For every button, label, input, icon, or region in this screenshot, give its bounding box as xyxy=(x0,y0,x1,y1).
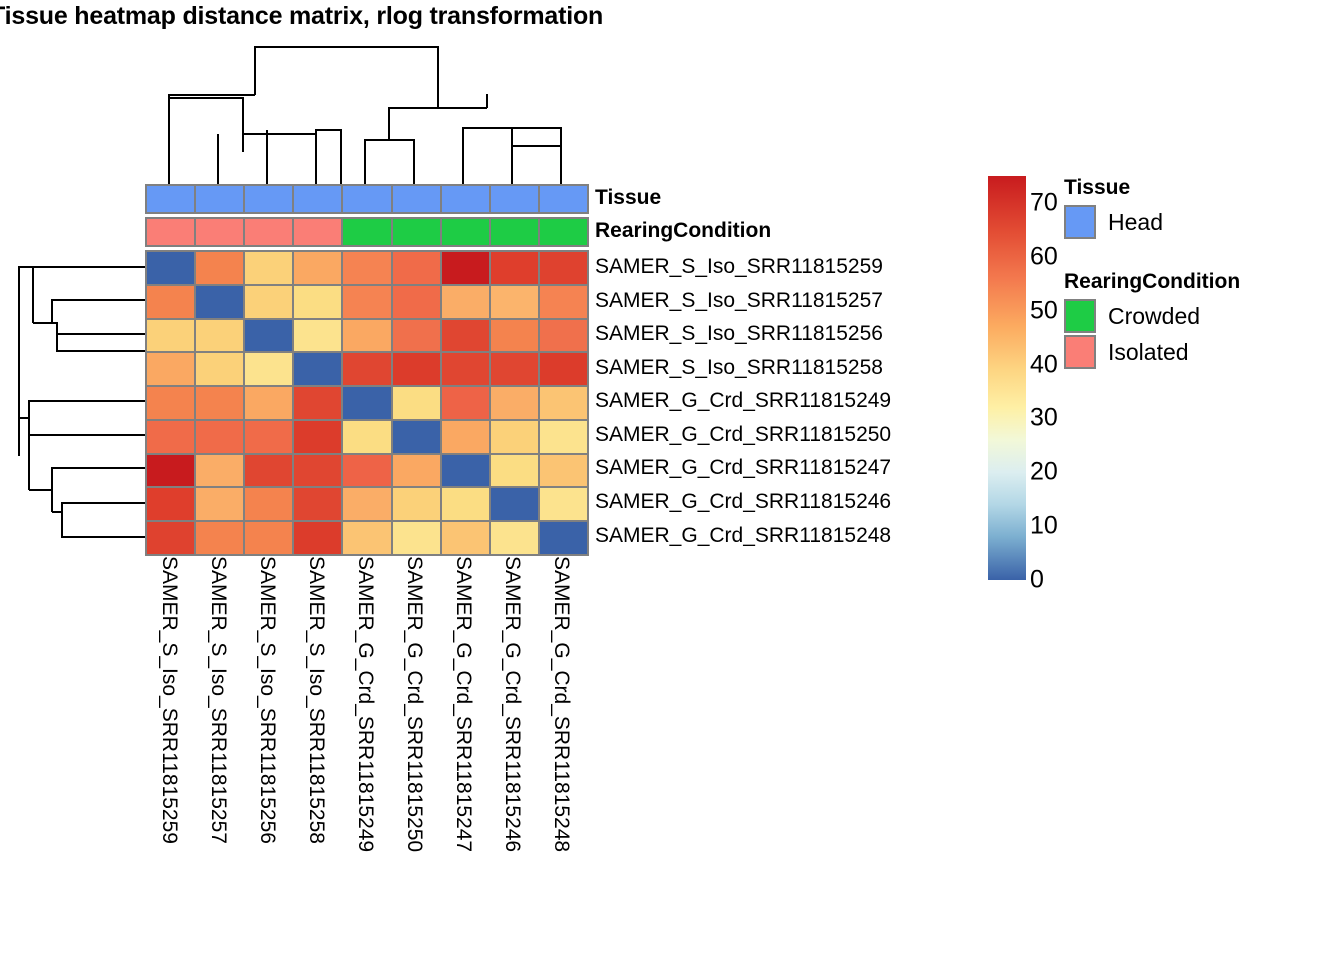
heatmap-figure: Tissue heatmap distance matrix, rlog tra… xyxy=(0,0,1344,960)
row-label: SAMER_S_Iso_SRR11815257 xyxy=(595,284,891,318)
heatmap-cell xyxy=(491,353,538,385)
annotation-cell xyxy=(147,219,194,245)
heatmap-cell xyxy=(147,252,194,284)
annotation-cell xyxy=(245,186,292,212)
column-labels: SAMER_S_Iso_SRR11815259SAMER_S_Iso_SRR11… xyxy=(145,556,585,936)
heatmap-cell xyxy=(147,488,194,520)
row-label: SAMER_S_Iso_SRR11815258 xyxy=(595,351,891,385)
heatmap-cell xyxy=(245,320,292,352)
colorbar-gradient xyxy=(988,176,1026,580)
legend-title-rearing-condition: RearingCondition xyxy=(1064,270,1240,294)
heatmap-cell xyxy=(540,421,587,453)
row-labels: SAMER_S_Iso_SRR11815259SAMER_S_Iso_SRR11… xyxy=(595,250,891,552)
annotation-bar-rearing-condition xyxy=(145,217,589,247)
heatmap-cell xyxy=(245,252,292,284)
heatmap-cell xyxy=(147,320,194,352)
heatmap-cell xyxy=(540,488,587,520)
colorbar-tick: 40 xyxy=(1030,350,1058,379)
legend-entry-crowded: Crowded xyxy=(1064,298,1240,334)
row-label: SAMER_G_Crd_SRR11815246 xyxy=(595,485,891,519)
column-label-slot: SAMER_S_Iso_SRR11815257 xyxy=(194,556,243,936)
heatmap-cell xyxy=(491,455,538,487)
heatmap-cell xyxy=(393,320,440,352)
colorbar-tick: 50 xyxy=(1030,296,1058,325)
column-label: SAMER_G_Crd_SRR11815248 xyxy=(549,556,573,852)
heatmap-cell xyxy=(393,522,440,554)
colorbar-tick: 60 xyxy=(1030,242,1058,271)
heatmap-cell xyxy=(442,286,489,318)
heatmap-cell xyxy=(294,286,341,318)
legend-title-tissue: Tissue xyxy=(1064,176,1163,200)
annotation-cell xyxy=(294,186,341,212)
row-label: SAMER_G_Crd_SRR11815249 xyxy=(595,384,891,418)
column-label-slot: SAMER_G_Crd_SRR11815249 xyxy=(341,556,390,936)
column-label: SAMER_S_Iso_SRR11815257 xyxy=(206,556,230,844)
column-label: SAMER_S_Iso_SRR11815259 xyxy=(157,556,181,844)
heatmap-cell xyxy=(245,421,292,453)
heatmap-cell xyxy=(393,421,440,453)
column-label-slot: SAMER_G_Crd_SRR11815250 xyxy=(389,556,438,936)
heatmap-cell xyxy=(393,488,440,520)
heatmap-matrix xyxy=(145,250,589,556)
heatmap-cell xyxy=(343,387,390,419)
heatmap-cell xyxy=(147,455,194,487)
legend-label-isolated: Isolated xyxy=(1108,339,1189,366)
heatmap-cell xyxy=(393,455,440,487)
heatmap-cell xyxy=(540,387,587,419)
colorbar-tick: 20 xyxy=(1030,458,1058,487)
annotation-cell xyxy=(196,219,243,245)
heatmap-cell xyxy=(196,353,243,385)
heatmap-cell xyxy=(343,286,390,318)
heatmap-cell xyxy=(294,488,341,520)
row-label: SAMER_G_Crd_SRR11815250 xyxy=(595,418,891,452)
heatmap-cell xyxy=(196,320,243,352)
row-label: SAMER_G_Crd_SRR11815248 xyxy=(595,519,891,553)
annotation-cell xyxy=(343,186,390,212)
annotation-cell xyxy=(393,186,440,212)
colorbar-tick: 0 xyxy=(1030,566,1044,595)
row-label: SAMER_S_Iso_SRR11815256 xyxy=(595,317,891,351)
heatmap-cell xyxy=(245,286,292,318)
legend-swatch-isolated xyxy=(1064,335,1096,369)
heatmap-cell xyxy=(245,488,292,520)
column-label-slot: SAMER_S_Iso_SRR11815259 xyxy=(145,556,194,936)
row-label: SAMER_S_Iso_SRR11815259 xyxy=(595,250,891,284)
legend-entry-isolated: Isolated xyxy=(1064,334,1240,370)
heatmap-cell xyxy=(393,353,440,385)
annotation-cell xyxy=(245,219,292,245)
heatmap-cell xyxy=(540,522,587,554)
column-label-slot: SAMER_G_Crd_SRR11815248 xyxy=(536,556,585,936)
heatmap-cell xyxy=(147,421,194,453)
annotation-cell xyxy=(540,186,587,212)
heatmap-cell xyxy=(491,488,538,520)
heatmap-cell xyxy=(294,387,341,419)
annotation-cell xyxy=(196,186,243,212)
heatmap-cell xyxy=(491,252,538,284)
heatmap-cell xyxy=(294,320,341,352)
heatmap-cell xyxy=(196,252,243,284)
heatmap-cell xyxy=(294,353,341,385)
page-title: Tissue heatmap distance matrix, rlog tra… xyxy=(0,2,603,31)
annotation-cell xyxy=(343,219,390,245)
column-dendrogram xyxy=(145,42,587,184)
heatmap-cell xyxy=(147,522,194,554)
heatmap-cell xyxy=(442,252,489,284)
column-label: SAMER_G_Crd_SRR11815249 xyxy=(353,556,377,852)
colorbar-tick: 30 xyxy=(1030,404,1058,433)
column-label: SAMER_G_Crd_SRR11815246 xyxy=(500,556,524,852)
heatmap-cell xyxy=(196,488,243,520)
heatmap-cell xyxy=(343,421,390,453)
legend-label-head: Head xyxy=(1108,209,1163,236)
heatmap-cell xyxy=(442,455,489,487)
colorbar-wrapper xyxy=(988,176,1026,580)
heatmap-cell xyxy=(147,286,194,318)
annotation-cell xyxy=(393,219,440,245)
annotation-cell xyxy=(147,186,194,212)
column-label-slot: SAMER_S_Iso_SRR11815256 xyxy=(243,556,292,936)
row-label: SAMER_G_Crd_SRR11815247 xyxy=(595,451,891,485)
column-label: SAMER_S_Iso_SRR11815256 xyxy=(255,556,279,844)
heatmap-cell xyxy=(343,252,390,284)
heatmap-cell xyxy=(147,353,194,385)
heatmap-cell xyxy=(491,286,538,318)
annotation-cell xyxy=(442,186,489,212)
annotation-cell xyxy=(540,219,587,245)
heatmap-cell xyxy=(196,455,243,487)
heatmap-cell xyxy=(343,353,390,385)
heatmap-cell xyxy=(343,488,390,520)
heatmap-cell xyxy=(393,387,440,419)
colorbar-tick: 10 xyxy=(1030,512,1058,541)
column-label-slot: SAMER_G_Crd_SRR11815246 xyxy=(487,556,536,936)
row-dendrogram xyxy=(2,250,145,554)
heatmap-cell xyxy=(294,455,341,487)
legend-tissue: Tissue Head xyxy=(1064,176,1163,240)
heatmap-cell xyxy=(491,387,538,419)
heatmap-cell xyxy=(245,387,292,419)
annotation-cell xyxy=(442,219,489,245)
heatmap-cell xyxy=(491,522,538,554)
heatmap-cell xyxy=(442,421,489,453)
heatmap-cell xyxy=(442,320,489,352)
heatmap-cell xyxy=(196,286,243,318)
heatmap-cell xyxy=(245,455,292,487)
heatmap-cell xyxy=(393,286,440,318)
heatmap-cell xyxy=(540,353,587,385)
annotation-cell xyxy=(294,219,341,245)
annotation-track-label-tissue: Tissue xyxy=(595,186,661,210)
legend-entry-head: Head xyxy=(1064,204,1163,240)
heatmap-cell xyxy=(442,522,489,554)
annotation-cell xyxy=(491,186,538,212)
column-label: SAMER_S_Iso_SRR11815258 xyxy=(304,556,328,844)
legend-swatch-crowded xyxy=(1064,299,1096,333)
legend-rearing-condition: RearingCondition Crowded Isolated xyxy=(1064,270,1240,370)
legend-label-crowded: Crowded xyxy=(1108,303,1200,330)
heatmap-cell xyxy=(245,353,292,385)
heatmap-cell xyxy=(147,387,194,419)
heatmap-cell xyxy=(294,421,341,453)
heatmap-cell xyxy=(442,353,489,385)
column-label-slot: SAMER_S_Iso_SRR11815258 xyxy=(292,556,341,936)
colorbar-tick: 70 xyxy=(1030,188,1058,217)
heatmap-cell xyxy=(343,320,390,352)
heatmap-cell xyxy=(442,488,489,520)
annotation-track-label-rearing-condition: RearingCondition xyxy=(595,219,771,243)
annotation-bar-tissue xyxy=(145,184,589,214)
legend-swatch-head xyxy=(1064,205,1096,239)
heatmap-cell xyxy=(491,421,538,453)
heatmap-cell xyxy=(343,522,390,554)
heatmap-cell xyxy=(245,522,292,554)
heatmap-cell xyxy=(294,252,341,284)
heatmap-cell xyxy=(294,522,341,554)
heatmap-cell xyxy=(540,286,587,318)
heatmap-cell xyxy=(196,387,243,419)
heatmap-cell xyxy=(540,252,587,284)
heatmap-cell xyxy=(442,387,489,419)
heatmap-cell xyxy=(343,455,390,487)
column-label-slot: SAMER_G_Crd_SRR11815247 xyxy=(438,556,487,936)
heatmap-cell xyxy=(196,421,243,453)
heatmap-cell xyxy=(393,252,440,284)
heatmap-cell xyxy=(491,320,538,352)
heatmap-cell xyxy=(540,320,587,352)
column-label: SAMER_G_Crd_SRR11815250 xyxy=(402,556,426,852)
heatmap-cell xyxy=(540,455,587,487)
annotation-cell xyxy=(491,219,538,245)
column-label: SAMER_G_Crd_SRR11815247 xyxy=(451,556,475,852)
heatmap-cell xyxy=(196,522,243,554)
